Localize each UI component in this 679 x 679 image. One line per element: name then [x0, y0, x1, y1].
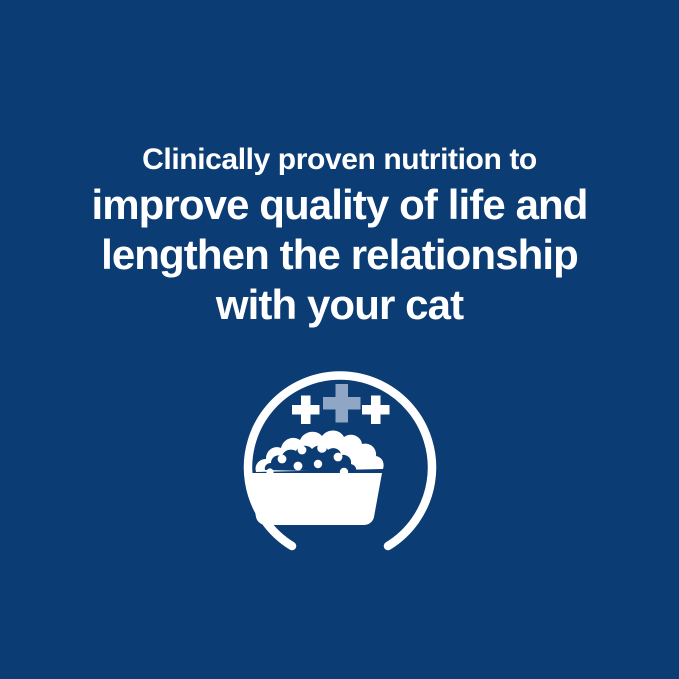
plus-left-icon	[292, 396, 320, 425]
headline-eyebrow: Clinically proven nutrition to	[28, 140, 651, 180]
food-bowl-icon	[248, 473, 382, 525]
headline-line-3: lengthen the relationship	[28, 230, 651, 280]
headline-block: Clinically proven nutrition to improve q…	[0, 140, 679, 330]
headline-line-2: improve quality of life and	[28, 180, 651, 230]
headline-line-4: with your cat	[28, 280, 651, 330]
plus-center-icon	[323, 384, 361, 423]
plus-right-icon	[362, 396, 390, 425]
promo-card: Clinically proven nutrition to improve q…	[0, 0, 679, 679]
nutrition-icon-container	[0, 360, 679, 556]
pet-food-bowl-with-sparkles-icon	[230, 360, 450, 556]
